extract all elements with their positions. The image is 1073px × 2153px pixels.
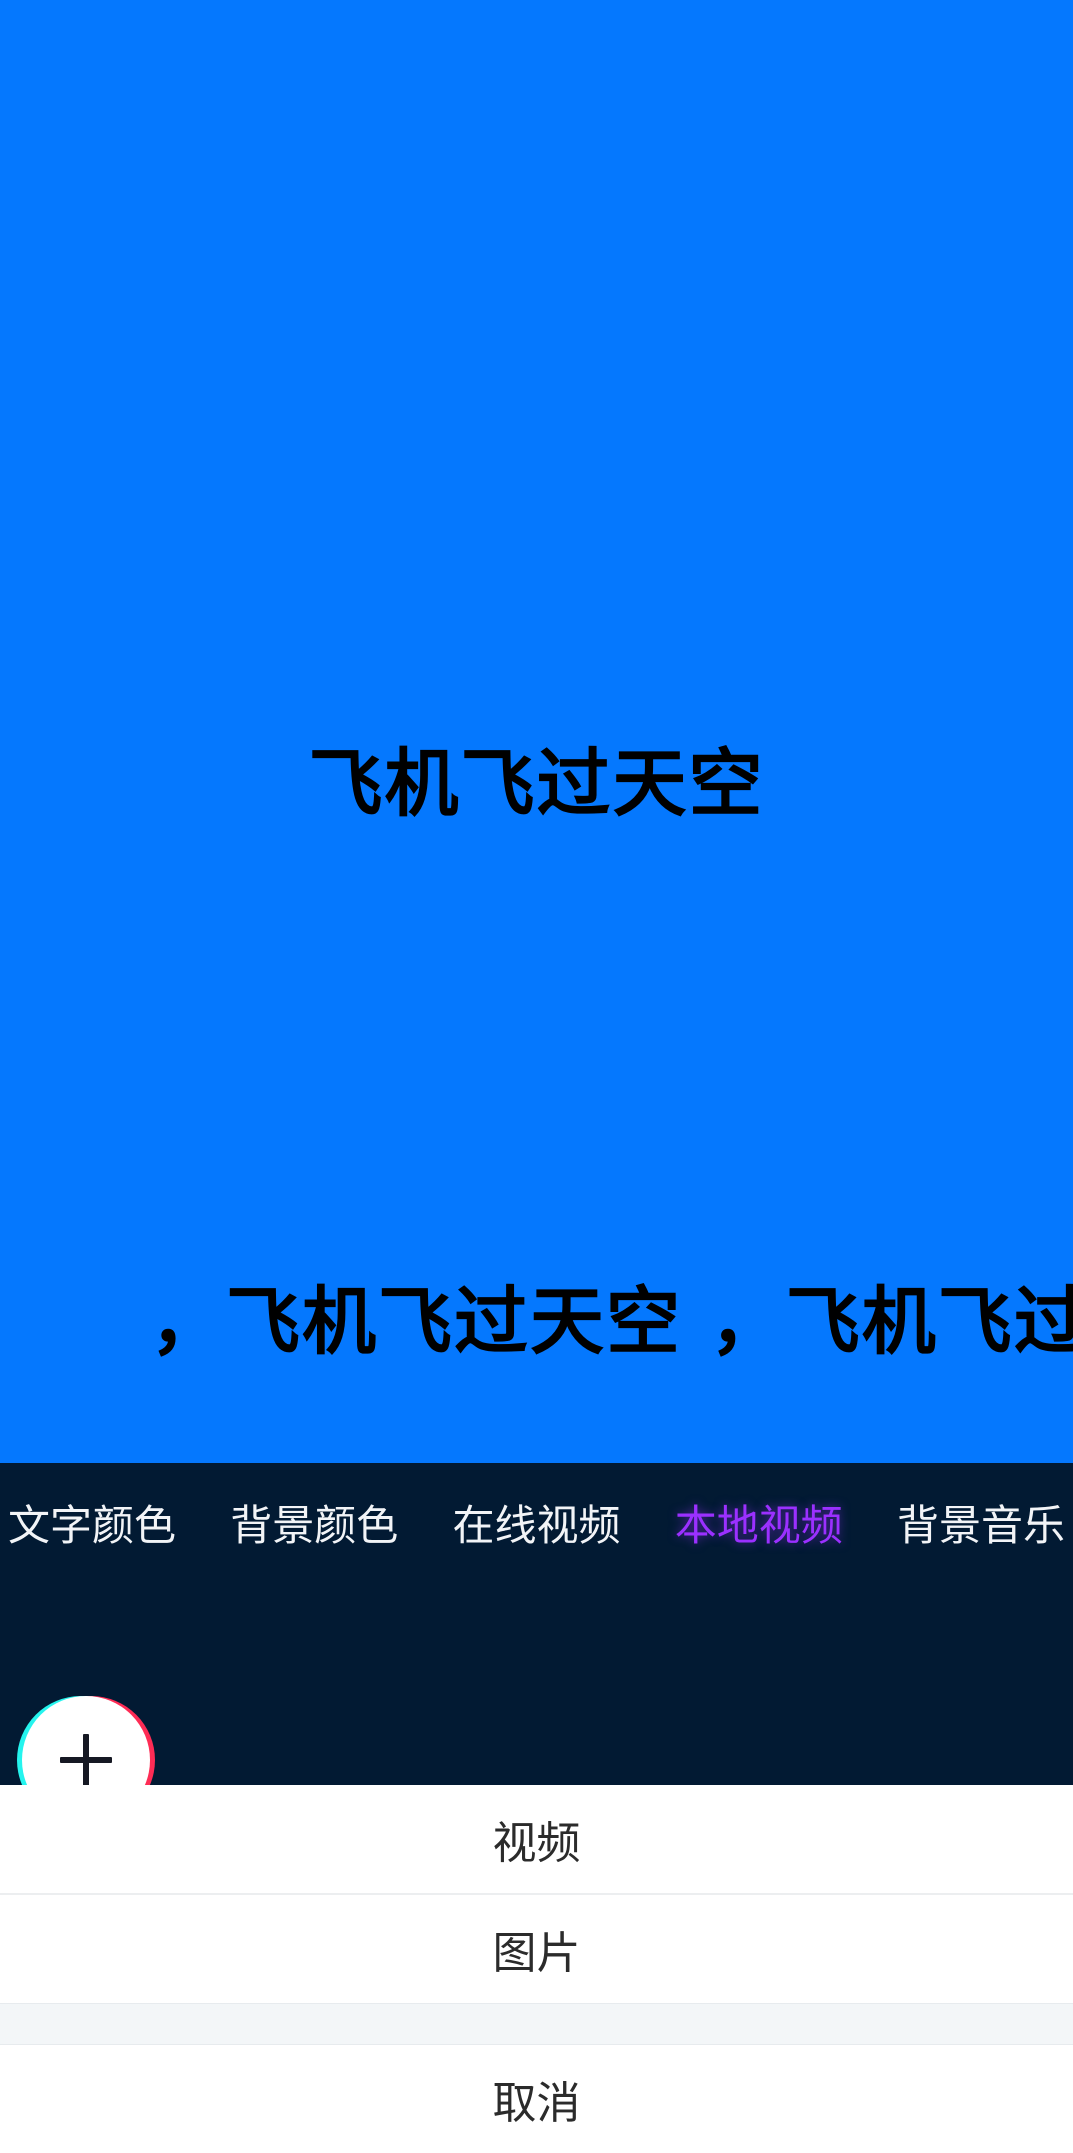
sheet-cancel-label: 取消 [493,2067,581,2131]
sheet-item-image-label: 图片 [493,1917,581,1981]
sheet-item-video[interactable]: 视频 [0,1785,1073,1893]
app-screen: 飞机飞过天空 ，飞机飞过天空 ，飞机飞过天空 文字颜色 背景颜色 在线视频 本地… [0,0,1073,2153]
sheet-cancel-button[interactable]: 取消 [0,2045,1073,2153]
tab-background-color[interactable]: 背景颜色 [228,1492,400,1553]
tab-text-color[interactable]: 文字颜色 [6,1492,178,1553]
video-preview-canvas[interactable]: 飞机飞过天空 ，飞机飞过天空 ，飞机飞过天空 [0,0,1073,1463]
sheet-item-image[interactable]: 图片 [0,1895,1073,2003]
tab-online-video[interactable]: 在线视频 [450,1492,622,1553]
scrolling-text-line: ，飞机飞过天空 ，飞机飞过天空 [150,1280,1073,1365]
headline-text: 飞机飞过天空 [0,742,1073,827]
media-source-action-sheet: 视频 图片 取消 [0,1785,1073,2153]
sheet-item-video-label: 视频 [493,1807,581,1871]
tab-background-music[interactable]: 背景音乐 [895,1492,1067,1553]
editor-toolbar: 文字颜色 背景颜色 在线视频 本地视频 背景音乐 [0,1463,1073,1785]
sheet-group-gap [0,2003,1073,2045]
toolbar-tab-row: 文字颜色 背景颜色 在线视频 本地视频 背景音乐 [0,1463,1073,1581]
tab-local-video[interactable]: 本地视频 [673,1492,845,1553]
